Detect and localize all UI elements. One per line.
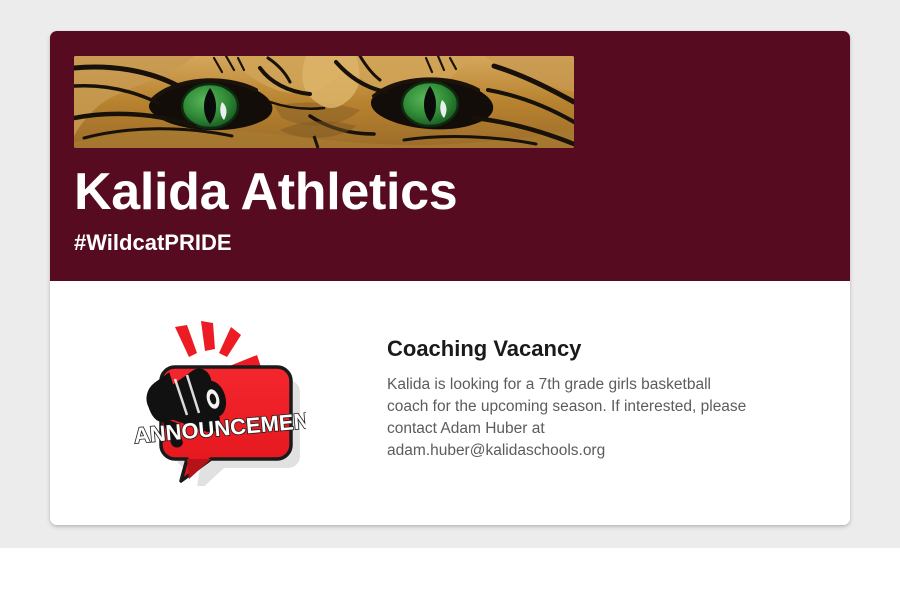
card-body: ANNOUNCEMENT Coaching Vacancy Kalida is … xyxy=(50,281,850,525)
announcement-heading: Coaching Vacancy xyxy=(387,336,798,362)
announcement-text-block: Coaching Vacancy Kalida is looking for a… xyxy=(387,281,850,462)
site-header: Kalida Athletics #WildcatPRIDE xyxy=(50,31,850,281)
wildcat-eyes-artwork xyxy=(74,56,574,148)
site-tagline: #WildcatPRIDE xyxy=(74,230,232,256)
wildcat-eyes-banner xyxy=(74,56,574,148)
announcement-card: Kalida Athletics #WildcatPRIDE xyxy=(50,31,850,525)
announcement-item: ANNOUNCEMENT Coaching Vacancy Kalida is … xyxy=(50,281,850,486)
site-title: Kalida Athletics xyxy=(74,164,457,220)
page-background: Kalida Athletics #WildcatPRIDE xyxy=(0,0,900,548)
announcement-megaphone-icon: ANNOUNCEMENT xyxy=(131,321,306,486)
announcement-figure: ANNOUNCEMENT xyxy=(50,281,387,486)
announcement-body: Kalida is looking for a 7th grade girls … xyxy=(387,374,752,462)
